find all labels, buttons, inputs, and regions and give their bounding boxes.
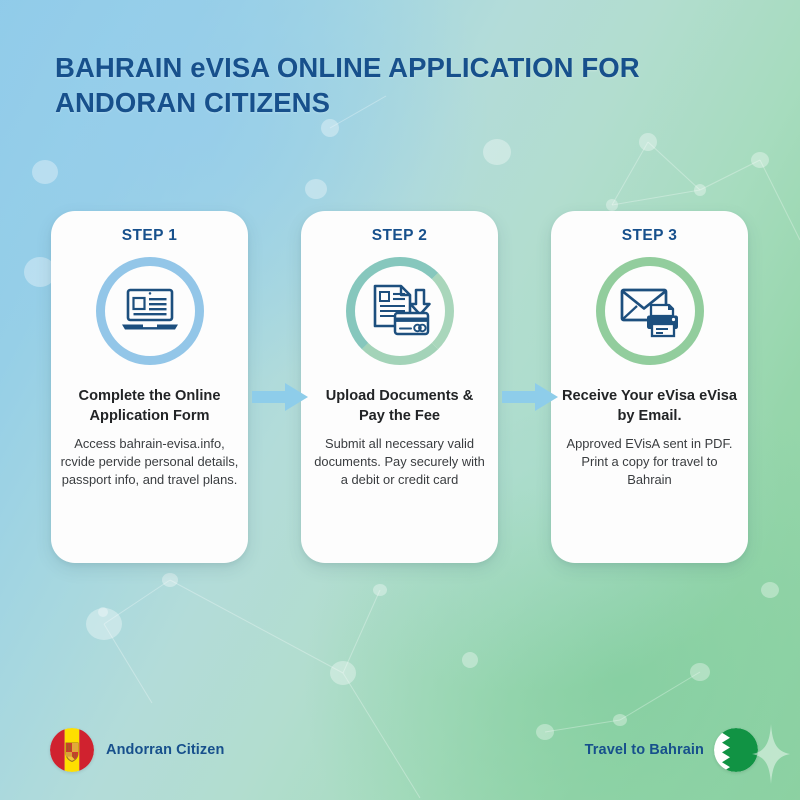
step-1-body: Access bahrain-evisa.info, rcvide pervid… — [60, 435, 240, 490]
arrow-step2-to-step3 — [502, 382, 558, 412]
andorra-flag-icon — [50, 728, 94, 772]
step-1-label: STEP 1 — [122, 227, 178, 245]
footer-origin-country: Andorran Citizen — [50, 728, 224, 772]
step-2-body: Submit all necessary valid documents. Pa… — [310, 435, 490, 490]
step-1-icon-ring — [96, 257, 204, 365]
page-title: BAHRAIN eVISA ONLINE APPLICATION FOR AND… — [55, 50, 675, 120]
page-title-line-2: ANDORAN CITIZENS — [55, 85, 675, 120]
steps-row: STEP 1 — [0, 211, 800, 571]
step-2-icon-ring — [346, 257, 454, 365]
step-1-heading: Complete the Online Application Form — [62, 387, 238, 427]
step-3-label: STEP 3 — [622, 227, 678, 245]
step-card-1[interactable]: STEP 1 — [51, 211, 248, 563]
bahrain-flag-icon — [714, 728, 758, 772]
envelope-printer-icon — [596, 257, 704, 365]
laptop-form-icon — [96, 257, 204, 365]
step-3-icon-ring — [596, 257, 704, 365]
step-card-2[interactable]: STEP 2 — [301, 211, 498, 563]
page-title-line-1: BAHRAIN eVISA ONLINE APPLICATION FOR — [55, 50, 675, 85]
infographic-canvas: BAHRAIN eVISA ONLINE APPLICATION FOR AND… — [0, 0, 800, 800]
step-3-heading: Receive Your eVisa eVisa by Email. — [562, 387, 738, 427]
footer-destination-country: Travel to Bahrain — [585, 728, 758, 772]
step-card-3[interactable]: STEP 3 — [551, 211, 748, 563]
document-upload-card-icon — [346, 257, 454, 365]
step-2-heading: Upload Documents & Pay the Fee — [312, 387, 488, 427]
arrow-step1-to-step2 — [252, 382, 308, 412]
step-3-body: Approved EVisA sent in PDF. Print a copy… — [560, 435, 740, 490]
footer-destination-label: Travel to Bahrain — [585, 742, 704, 758]
step-2-label: STEP 2 — [372, 227, 428, 245]
footer-origin-label: Andorran Citizen — [106, 742, 224, 758]
